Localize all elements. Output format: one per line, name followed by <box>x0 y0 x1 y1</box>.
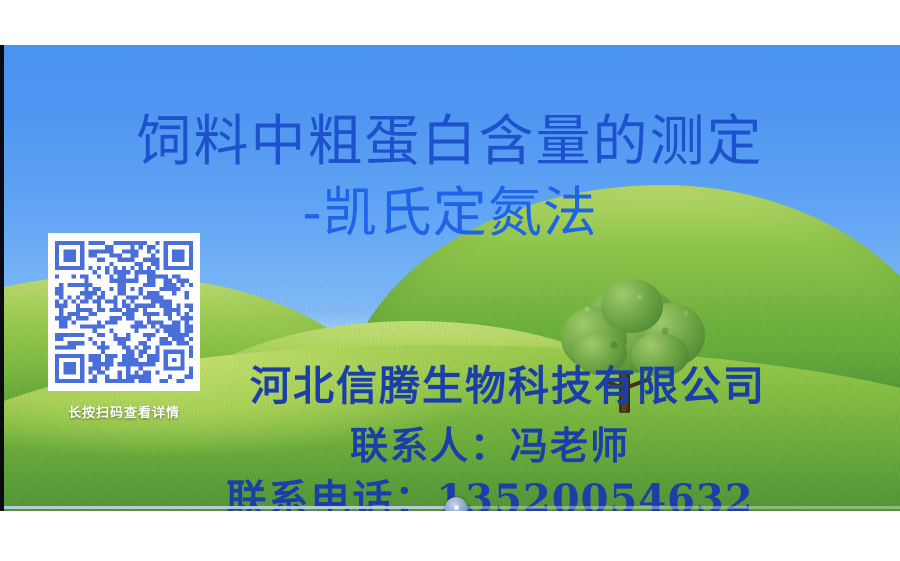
qr-code-caption: 长按扫码查看详情 <box>48 402 200 421</box>
tree-graphic <box>557 283 707 413</box>
video-left-border <box>0 45 4 511</box>
video-player[interactable]: 饲料中粗蛋白含量的测定 -凯氏定氮法 河北信腾生物科技有限公司 联系人：冯老师 … <box>0 45 900 511</box>
video-progress-fill <box>4 506 456 509</box>
qr-code-block[interactable]: 长按扫码查看详情 <box>48 233 200 421</box>
video-progress-bar[interactable] <box>4 506 900 509</box>
page-root: 饲料中粗蛋白含量的测定 -凯氏定氮法 河北信腾生物科技有限公司 联系人：冯老师 … <box>0 0 900 561</box>
qr-code-image[interactable] <box>48 233 200 391</box>
qr-code-canvas[interactable] <box>55 241 193 383</box>
tree-canopy <box>557 279 707 379</box>
